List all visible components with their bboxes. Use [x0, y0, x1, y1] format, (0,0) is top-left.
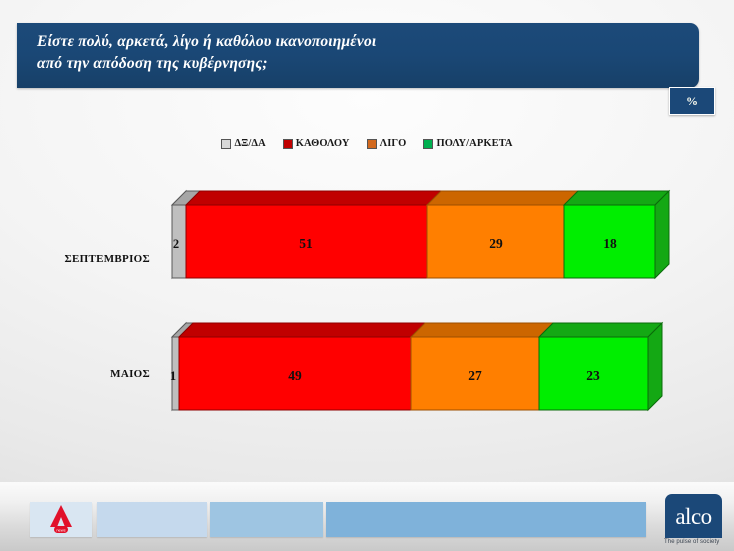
legend-label-dxda: ΔΞ/ΔΑ	[234, 138, 265, 149]
category-label-maios: ΜΑΙΟΣ	[20, 368, 150, 380]
bar2-segment-katholou-top	[179, 323, 425, 337]
category-label-septemvrios: ΣΕΠΤΕΜΒΡΙΟΣ	[20, 253, 150, 265]
value-label-maios-dxda: 1	[165, 369, 181, 384]
bar-group-maios	[172, 323, 662, 410]
bar-segment-poly-arketa-top	[564, 191, 669, 205]
bar2-segment-poly-arketa-top	[539, 323, 662, 337]
legend-item-poly-arketa[interactable]: ΠΟΛΥ/ΑΡΚΕΤΑ	[423, 138, 512, 149]
bar2-segment-dxda-side	[172, 323, 186, 410]
legend-label-ligo: ΛΙΓΟ	[380, 138, 407, 149]
alco-logo: alco	[665, 494, 722, 538]
footer-chip-1	[97, 502, 207, 537]
value-label-maios-poly-arketa: 23	[563, 368, 623, 384]
slide-canvas: Είστε πολύ, αρκετά, λίγο ή καθόλου ικανο…	[0, 0, 734, 551]
bar2-segment-dxda-top	[172, 323, 193, 337]
legend-swatch-dxda	[221, 139, 231, 149]
percent-unit-label: %	[686, 94, 698, 109]
legend-swatch-ligo	[367, 139, 377, 149]
legend-swatch-poly-arketa	[423, 139, 433, 149]
value-label-septemvrios-poly-arketa: 18	[580, 236, 640, 252]
bar2-segment-poly-arketa-side	[648, 323, 662, 410]
footer-chip-2	[210, 502, 323, 537]
bar-segment-poly-arketa-side	[655, 191, 669, 278]
title-banner: Είστε πολύ, αρκετά, λίγο ή καθόλου ικανο…	[17, 23, 699, 88]
bar-group-septemvrios	[172, 191, 669, 278]
legend-label-poly-arketa: ΠΟΛΥ/ΑΡΚΕΤΑ	[436, 138, 512, 149]
alpha-news-logo-icon: news	[45, 503, 77, 536]
value-label-maios-katholou: 49	[265, 368, 325, 384]
bar-segment-katholou-top	[186, 191, 441, 205]
footer-chip-3	[326, 502, 646, 537]
page-title: Είστε πολύ, αρκετά, λίγο ή καθόλου ικανο…	[37, 31, 689, 74]
value-label-septemvrios-ligo: 29	[466, 236, 526, 252]
chart-legend: ΔΞ/ΔΑ ΚΑΘΟΛΟΥ ΛΙΓΟ ΠΟΛΥ/ΑΡΚΕΤΑ	[0, 138, 734, 149]
legend-item-dxda[interactable]: ΔΞ/ΔΑ	[221, 138, 265, 149]
legend-item-ligo[interactable]: ΛΙΓΟ	[367, 138, 407, 149]
value-label-septemvrios-katholou: 51	[276, 236, 336, 252]
bar2-segment-ligo-top	[411, 323, 553, 337]
legend-swatch-katholou	[283, 139, 293, 149]
alco-tagline: The pulse of society	[664, 539, 734, 545]
bar-segment-dxda-side	[172, 191, 186, 278]
svg-text:news: news	[56, 527, 65, 532]
legend-item-katholou[interactable]: ΚΑΘΟΛΟΥ	[283, 138, 350, 149]
bar-segment-dxda-top	[172, 191, 200, 205]
alco-brand-text: alco	[675, 505, 711, 528]
value-label-maios-ligo: 27	[445, 368, 505, 384]
value-label-septemvrios-dxda: 2	[168, 237, 184, 252]
legend-label-katholou: ΚΑΘΟΛΟΥ	[296, 138, 350, 149]
bar-segment-ligo-top	[427, 191, 578, 205]
percent-unit-badge: %	[669, 87, 715, 115]
